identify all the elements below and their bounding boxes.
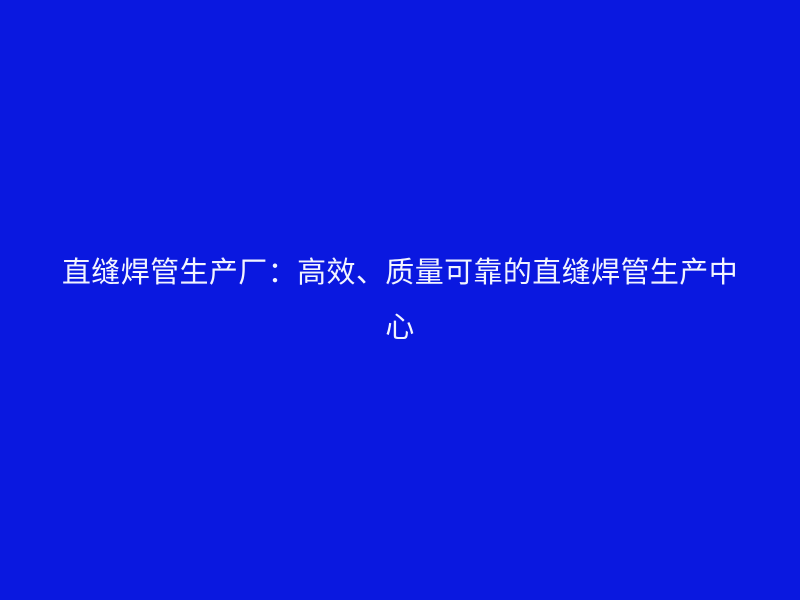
banner-slide: 直缝焊管生产厂：高效、质量可靠的直缝焊管生产中心 [0, 0, 800, 600]
headline-block: 直缝焊管生产厂：高效、质量可靠的直缝焊管生产中心 [50, 245, 750, 355]
page-title: 直缝焊管生产厂：高效、质量可靠的直缝焊管生产中心 [50, 245, 750, 355]
